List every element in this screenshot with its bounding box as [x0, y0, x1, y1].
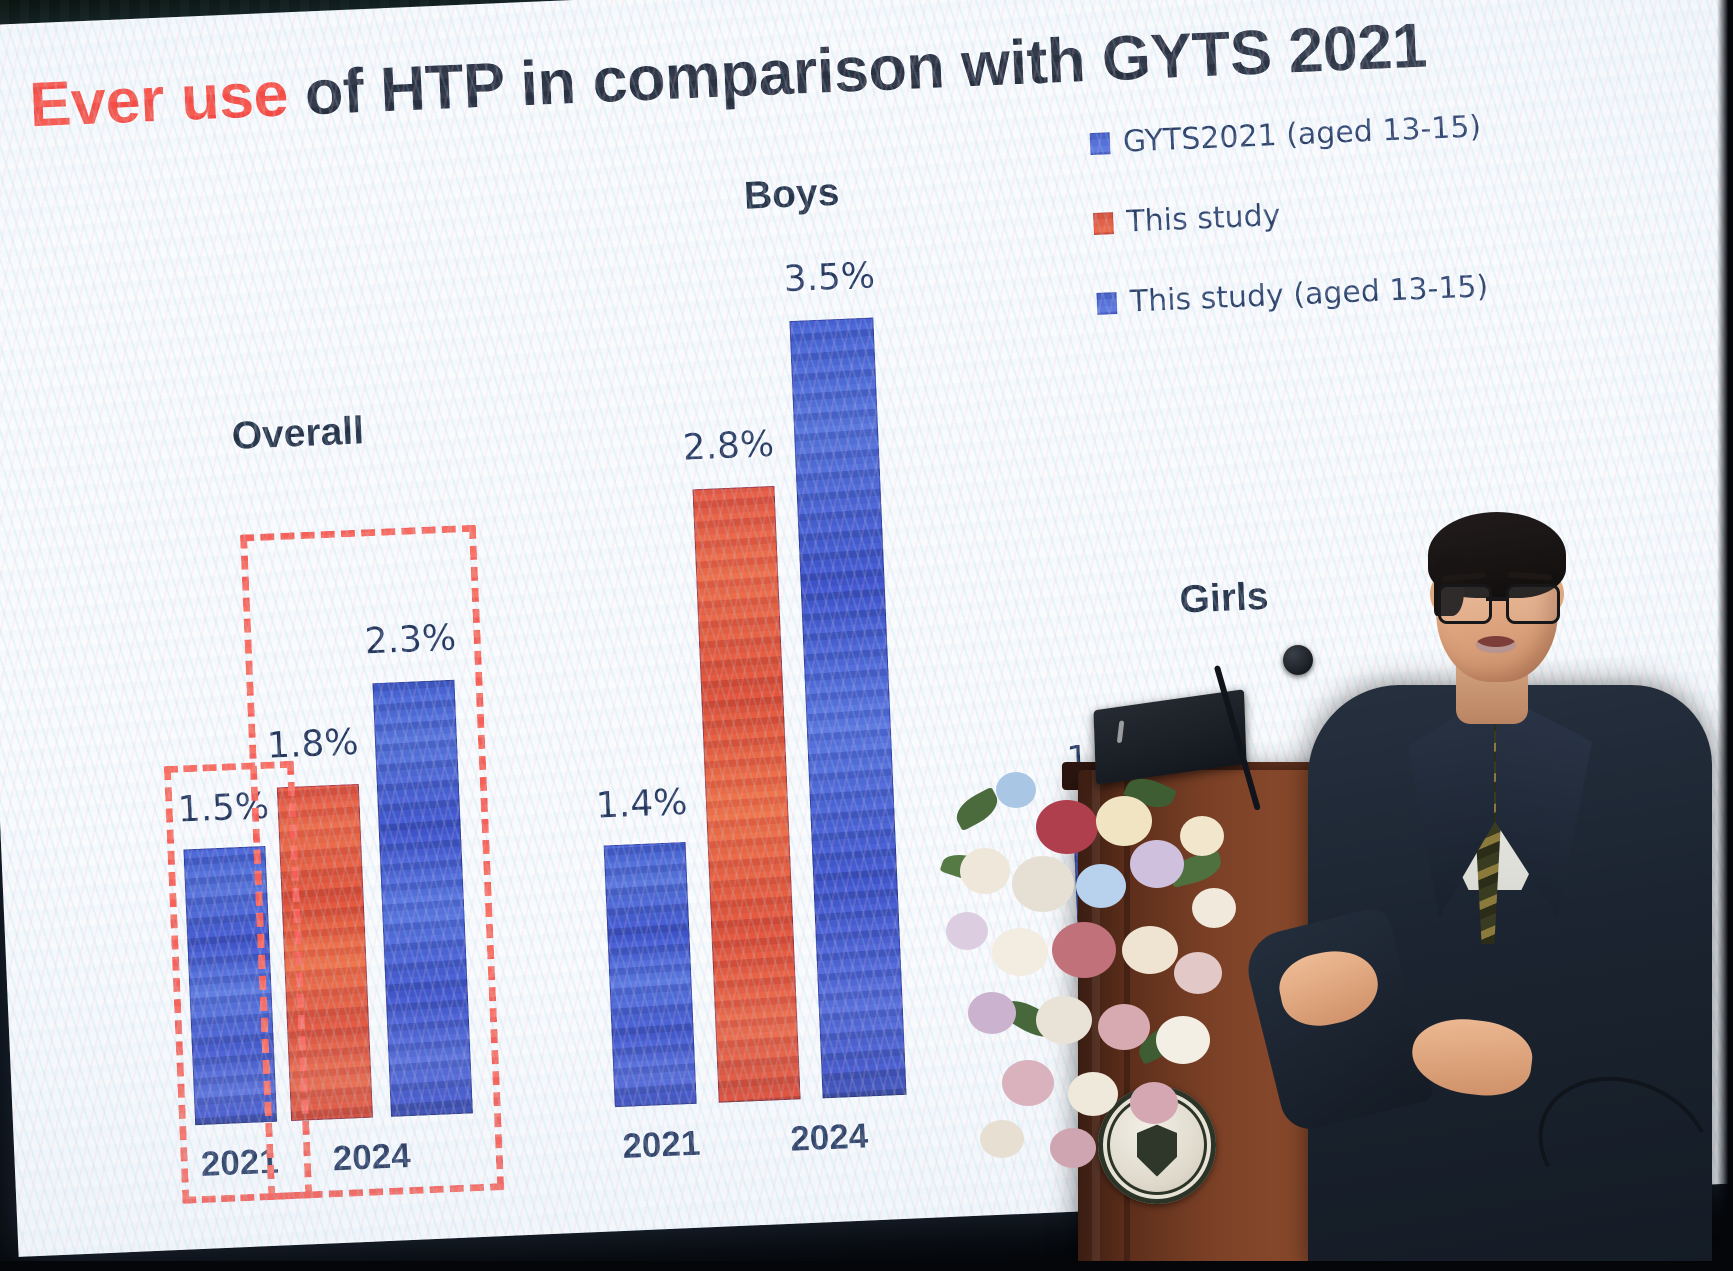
slide: Ever use of HTP in comparison with GYTS …: [0, 0, 1733, 1257]
bar-boys-2024-study: [692, 486, 800, 1103]
value-label-girls-2021: 1.5%: [1066, 736, 1159, 781]
value-label-boys-2024-study: 2.8%: [682, 424, 775, 469]
presentation-photo: Ever use of HTP in comparison with GYTS …: [0, 0, 1733, 1271]
bar-boys-2024-study-1315: [789, 317, 906, 1098]
group-title-girls: Girls: [1179, 575, 1270, 623]
bar-boys-2021-gyts: [604, 842, 697, 1107]
group-title-overall: Overall: [231, 409, 365, 459]
group-title-boys: Boys: [743, 171, 840, 219]
value-label-boys-2021: 1.4%: [595, 782, 688, 827]
chart-plot-area: Overall 1.5% 1.8% 2.3% 2021 2024 Boys: [0, 0, 1733, 1257]
projection-screen: Ever use of HTP in comparison with GYTS …: [0, 0, 1733, 1257]
highlight-box-overall-2024: [240, 525, 504, 1200]
x-label-boys-2024: 2024: [790, 1116, 870, 1159]
value-label-boys-2024-study-1315: 3.5%: [783, 255, 876, 300]
bar-girls-2021-gyts: [1072, 800, 1168, 1087]
x-label-boys-2021: 2021: [622, 1124, 702, 1167]
